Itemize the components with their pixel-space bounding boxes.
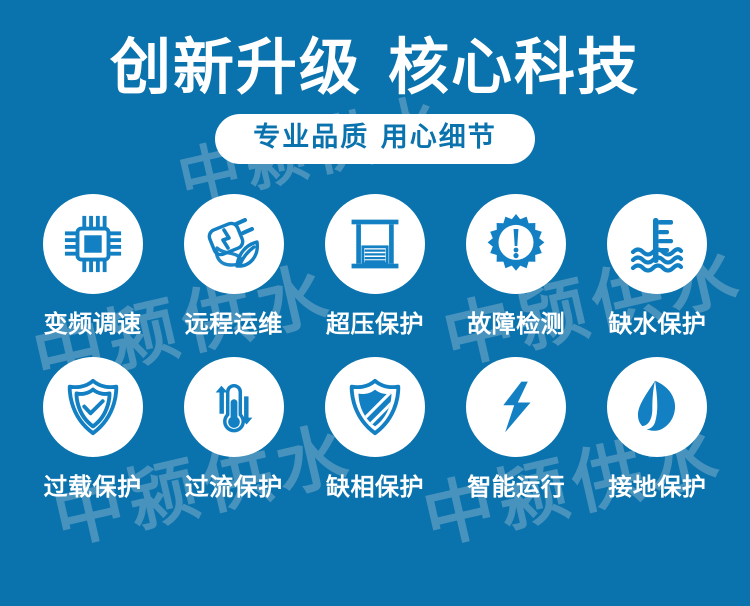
feature-grid: 变频调速 远程运维	[0, 194, 750, 502]
feature-item[interactable]: 智能运行	[446, 357, 587, 502]
shield-stripes-icon	[344, 376, 406, 438]
page-title: 创新升级核心科技	[0, 36, 750, 100]
icon-disc	[466, 357, 566, 457]
feature-label: 故障检测	[467, 304, 565, 339]
lightning-bolt-icon	[487, 378, 545, 436]
cpu-chip-icon	[62, 213, 124, 275]
icon-disc	[466, 194, 566, 294]
feature-label: 过流保护	[185, 467, 283, 502]
subtitle-badge: 专业品质 用心细节	[215, 114, 534, 164]
feature-label: 变频调速	[44, 304, 142, 339]
feature-item[interactable]: 过流保护	[163, 357, 304, 502]
icon-disc	[184, 357, 284, 457]
feature-label: 超压保护	[326, 304, 424, 339]
gear-alert-icon	[484, 212, 548, 276]
feature-item[interactable]: 缺水保护	[587, 194, 728, 339]
feature-label: 过载保护	[44, 467, 142, 502]
shield-check-icon	[62, 376, 124, 438]
feature-item[interactable]: 过载保护	[22, 357, 163, 502]
plug-leaf-icon	[202, 212, 266, 276]
icon-disc-wrapper[interactable]: 故障检测	[446, 194, 587, 339]
feature-label: 缺水保护	[608, 304, 706, 339]
icon-disc	[43, 194, 143, 294]
icon-disc	[607, 357, 707, 457]
icon-disc	[43, 357, 143, 457]
feature-label: 智能运行	[467, 467, 565, 502]
feature-label: 缺相保护	[326, 467, 424, 502]
feature-item[interactable]: 接地保护	[587, 357, 728, 502]
page-title-part1: 创新升级	[110, 32, 362, 103]
icon-disc	[325, 357, 425, 457]
feature-item[interactable]: 超压保护	[304, 194, 445, 339]
press-machine-icon	[345, 214, 405, 274]
feature-item[interactable]: 变频调速	[22, 194, 163, 339]
feature-item[interactable]: 缺相保护	[304, 357, 445, 502]
feature-label: 接地保护	[608, 467, 706, 502]
subtitle-badge-wrapper: 专业品质 用心细节	[0, 114, 750, 164]
banner-header: 创新升级核心科技 专业品质 用心细节	[0, 0, 750, 164]
icon-disc	[325, 194, 425, 294]
page-title-part2: 核心科技	[388, 32, 640, 103]
icon-disc	[607, 194, 707, 294]
feature-item[interactable]: 远程运维	[163, 194, 304, 339]
thermometer-arrows-icon	[203, 376, 265, 438]
icon-disc	[184, 194, 284, 294]
water-level-icon	[625, 212, 689, 276]
feature-label: 远程运维	[185, 304, 283, 339]
water-drop-leaf-icon	[627, 377, 687, 437]
